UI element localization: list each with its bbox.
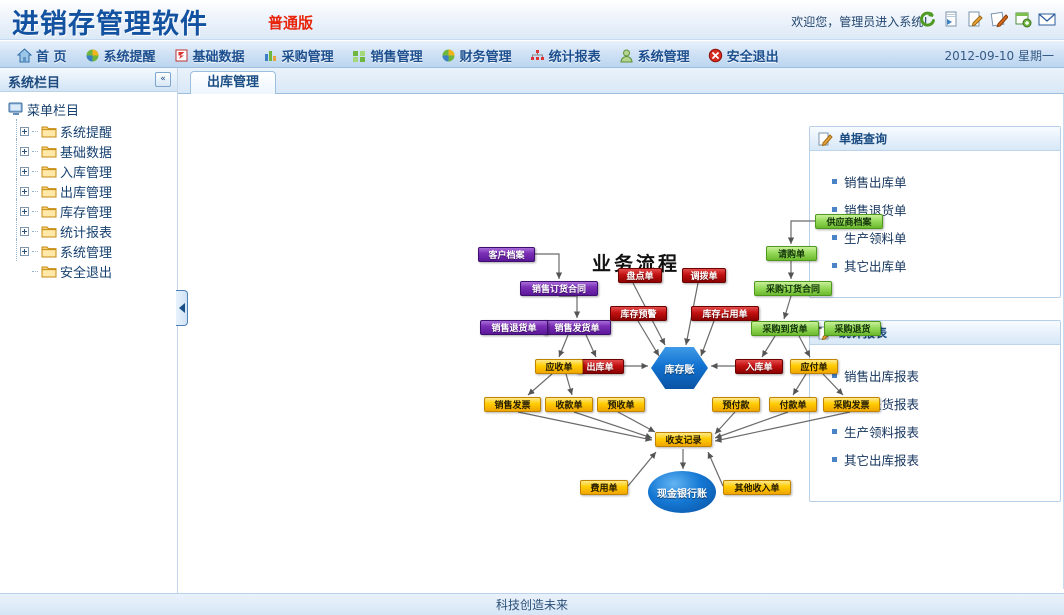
tab-strip: 出库管理 (178, 68, 1064, 94)
expand-plus-icon[interactable] (20, 207, 29, 216)
cart-icon (352, 48, 367, 63)
flow-node-qtsrd[interactable]: 其他收入单 (723, 480, 791, 495)
nav-label: 采购管理 (282, 46, 334, 65)
expand-plus-icon[interactable] (20, 127, 29, 136)
tree-guide-line (16, 119, 17, 141)
flow-node-xsdhht[interactable]: 销售订货合同 (520, 281, 598, 296)
nav-label: 财务管理 (460, 46, 512, 65)
folder-icon (41, 125, 57, 138)
sidebar-item-logout[interactable]: 安全退出 (8, 261, 177, 281)
flow-node-kcyj[interactable]: 库存预警 (610, 306, 667, 321)
flow-node-label: 应付单 (800, 360, 827, 373)
mail-icon[interactable] (1038, 10, 1056, 28)
expand-plus-icon[interactable] (20, 187, 29, 196)
flow-node-label: 入库单 (745, 360, 772, 373)
flow-node-label: 收支记录 (665, 433, 701, 446)
sidebar-item-outbound[interactable]: 出库管理 (8, 181, 177, 201)
flow-node-khda[interactable]: 客户档案 (478, 247, 535, 262)
tree-connector (32, 171, 38, 172)
app-root: 进销存管理软件 普通版 欢迎您，管理员进入系统! (0, 0, 1064, 615)
flow-node-label: 采购退货 (834, 322, 870, 335)
flow-node-cgdhd[interactable]: 采购到货单 (751, 321, 819, 336)
flow-node-qgd[interactable]: 请购单 (766, 246, 817, 261)
tree-guide-line (16, 159, 17, 181)
flow-node-dbd[interactable]: 调拨单 (682, 268, 726, 283)
flow-node-label: 采购到货单 (762, 322, 807, 335)
tree-connector (32, 231, 38, 232)
tree-connector (32, 271, 38, 272)
flow-node-yfk[interactable]: 预付款 (712, 397, 760, 412)
tree-root-label: 菜单栏目 (27, 100, 79, 119)
nav-item-system-admin[interactable]: 系统管理 (610, 41, 699, 69)
sidebar-item-label: 系统管理 (60, 242, 112, 261)
document-run-icon[interactable] (942, 10, 960, 28)
finance-icon (441, 48, 456, 63)
flow-node-pdd[interactable]: 盘点单 (618, 268, 662, 283)
flow-node-label: 出库单 (586, 360, 613, 373)
bell-icon (85, 48, 100, 63)
flow-node-ysd[interactable]: 应收单 (535, 359, 583, 374)
monitor-icon (8, 102, 23, 117)
nav-item-home[interactable]: 首 页 (8, 41, 76, 69)
main-navigation: 首 页 系统提醒 基础数据 采购管理 (0, 40, 1064, 68)
folder-icon (41, 165, 57, 178)
flow-node-ysk[interactable]: 预收单 (597, 397, 645, 412)
app-title: 进销存管理软件 (12, 2, 208, 41)
panel-body: 业务流程 (178, 94, 1064, 589)
content-area: 出库管理 业务流程 (178, 68, 1064, 615)
nav-item-list: 首 页 系统提醒 基础数据 采购管理 (8, 41, 788, 69)
flow-node-label: 采购发票 (833, 398, 869, 411)
nav-label: 安全退出 (727, 46, 779, 65)
flow-node-rkd[interactable]: 入库单 (735, 359, 783, 374)
flow-node-label: 销售发票 (494, 398, 530, 411)
chart-icon (263, 48, 278, 63)
flow-node-label: 预付款 (722, 398, 749, 411)
flow-node-label: 请购单 (778, 247, 805, 260)
expand-plus-icon[interactable] (20, 247, 29, 256)
nav-label: 统计报表 (549, 46, 601, 65)
sidebar-item-inventory[interactable]: 库存管理 (8, 201, 177, 221)
database-icon (174, 48, 189, 63)
tree-connector (32, 151, 38, 152)
user-icon (619, 48, 634, 63)
nav-item-finance[interactable]: 财务管理 (432, 41, 521, 69)
flow-node-label: 销售发货单 (554, 321, 599, 334)
nav-item-sales[interactable]: 销售管理 (343, 41, 432, 69)
refresh-icon[interactable] (918, 10, 936, 28)
edit-document-icon[interactable] (966, 10, 984, 28)
flow-node-label: 付款单 (779, 398, 806, 411)
expand-plus-icon[interactable] (20, 147, 29, 156)
flow-node-xsthd[interactable]: 销售退货单 (480, 320, 548, 335)
sidebar-item-label: 基础数据 (60, 142, 112, 161)
sidebar-item-basic-data[interactable]: 基础数据 (8, 141, 177, 161)
tree-guide-line (16, 219, 17, 241)
nav-label: 首 页 (36, 46, 67, 65)
home-icon (17, 48, 32, 63)
flow-node-skd[interactable]: 收款单 (545, 397, 593, 412)
tree-connector (32, 191, 38, 192)
welcome-message: 欢迎您，管理员进入系统! (791, 13, 928, 30)
flow-node-label: 库存占用单 (702, 307, 747, 320)
nav-item-reports[interactable]: 统计报表 (521, 41, 610, 69)
folder-icon (41, 145, 57, 158)
sidebar-collapse-button[interactable]: « (155, 72, 171, 87)
app-edition-badge: 普通版 (268, 12, 313, 33)
flow-node-xsfp[interactable]: 销售发票 (484, 397, 541, 412)
folder-icon (41, 185, 57, 198)
flow-node-ckd[interactable]: 出库单 (576, 359, 624, 374)
current-date: 2012-09-10 星期一 (944, 41, 1054, 69)
flow-node-label: 库存预警 (620, 307, 656, 320)
folder-icon (41, 245, 57, 258)
flow-node-label: 采购订货合同 (766, 282, 820, 295)
flow-node-label: 其他收入单 (734, 481, 779, 494)
tree-leaf-spacer (16, 271, 29, 272)
folder-icon (41, 225, 57, 238)
nav-label: 基础数据 (193, 46, 245, 65)
flow-node-label: 收款单 (555, 398, 582, 411)
flow-node-cgth[interactable]: 采购退货 (824, 321, 881, 336)
flow-node-cgfp[interactable]: 采购发票 (823, 397, 880, 412)
sidebar-item-inbound[interactable]: 入库管理 (8, 161, 177, 181)
flow-node-xsfhd[interactable]: 销售发货单 (543, 320, 611, 335)
tree-guide-line (16, 239, 17, 261)
flow-node-label: 客户档案 (488, 248, 524, 261)
new-window-icon[interactable] (1014, 10, 1032, 28)
pen-note-icon[interactable] (990, 10, 1008, 28)
app-header: 进销存管理软件 普通版 欢迎您，管理员进入系统! (0, 0, 1064, 40)
business-flow-diagram: 业务流程 (178, 94, 998, 564)
sidebar-splitter-handle[interactable] (176, 290, 188, 326)
tree-connector (32, 251, 38, 252)
sidebar-item-label: 入库管理 (60, 162, 112, 181)
tree-connector (32, 211, 38, 212)
flow-node-label: 预收单 (607, 398, 634, 411)
folder-icon (41, 265, 57, 278)
nav-label: 销售管理 (371, 46, 423, 65)
nav-item-system-alert[interactable]: 系统提醒 (76, 41, 165, 69)
flow-node-label: 销售订货合同 (532, 282, 586, 295)
menu-tree: 菜单栏目 系统提醒 基础数据 (0, 92, 177, 281)
sidebar-item-label: 系统提醒 (60, 122, 112, 141)
flow-node-fyd[interactable]: 费用单 (580, 480, 628, 495)
flow-node-yfd[interactable]: 应付单 (790, 359, 838, 374)
chevron-left-icon (179, 303, 185, 313)
flow-node-gysda[interactable]: 供应商档案 (815, 214, 883, 229)
flow-node-szjl[interactable]: 收支记录 (655, 432, 712, 447)
flow-node-cgdhht[interactable]: 采购订货合同 (754, 281, 832, 296)
expand-plus-icon[interactable] (20, 227, 29, 236)
sidebar-title: 系统栏目 (8, 72, 60, 91)
sidebar-item-system-alert[interactable]: 系统提醒 (8, 121, 177, 141)
header-icon-bar (918, 10, 1056, 28)
tree-guide-line (16, 199, 17, 221)
nav-item-purchase[interactable]: 采购管理 (254, 41, 343, 69)
sidebar-item-label: 出库管理 (60, 182, 112, 201)
flow-node-label: 调拨单 (690, 269, 717, 282)
nav-item-logout[interactable]: 安全退出 (699, 41, 788, 69)
flow-node-kczyd[interactable]: 库存占用单 (691, 306, 759, 321)
flow-node-label: 库存账 (665, 361, 695, 376)
tree-guide-line (16, 179, 17, 201)
tree-connector (32, 131, 38, 132)
report-icon (530, 48, 545, 63)
sidebar-item-system-admin[interactable]: 系统管理 (8, 241, 177, 261)
sidebar-item-label: 库存管理 (60, 202, 112, 221)
flow-node-label: 供应商档案 (826, 215, 871, 228)
flow-node-fkd[interactable]: 付款单 (769, 397, 817, 412)
tab-outbound-management[interactable]: 出库管理 (190, 71, 276, 94)
nav-item-basic-data[interactable]: 基础数据 (165, 41, 254, 69)
flow-node-label: 现金银行账 (657, 485, 707, 500)
nav-label: 系统管理 (638, 46, 690, 65)
flow-node-label: 盘点单 (626, 269, 653, 282)
flow-node-label: 销售退货单 (491, 321, 536, 334)
sidebar-item-label: 统计报表 (60, 222, 112, 241)
tree-root-node[interactable]: 菜单栏目 (8, 100, 177, 119)
tree-guide-line (16, 139, 17, 161)
nav-label: 系统提醒 (104, 46, 156, 65)
footer-text: 科技创造未来 (496, 596, 568, 613)
expand-plus-icon[interactable] (20, 167, 29, 176)
sidebar-item-label: 安全退出 (60, 262, 112, 281)
sidebar: 系统栏目 « 菜单栏目 系统提醒 (0, 68, 178, 615)
folder-icon (41, 205, 57, 218)
sidebar-header: 系统栏目 « (0, 68, 177, 92)
app-footer: 科技创造未来 (0, 593, 1064, 615)
flow-node-label: 费用单 (590, 481, 617, 494)
flow-node-label: 应收单 (545, 360, 572, 373)
exit-icon (708, 48, 723, 63)
sidebar-item-reports[interactable]: 统计报表 (8, 221, 177, 241)
flow-node-cash-bank-ledger[interactable]: 现金银行账 (648, 471, 716, 513)
